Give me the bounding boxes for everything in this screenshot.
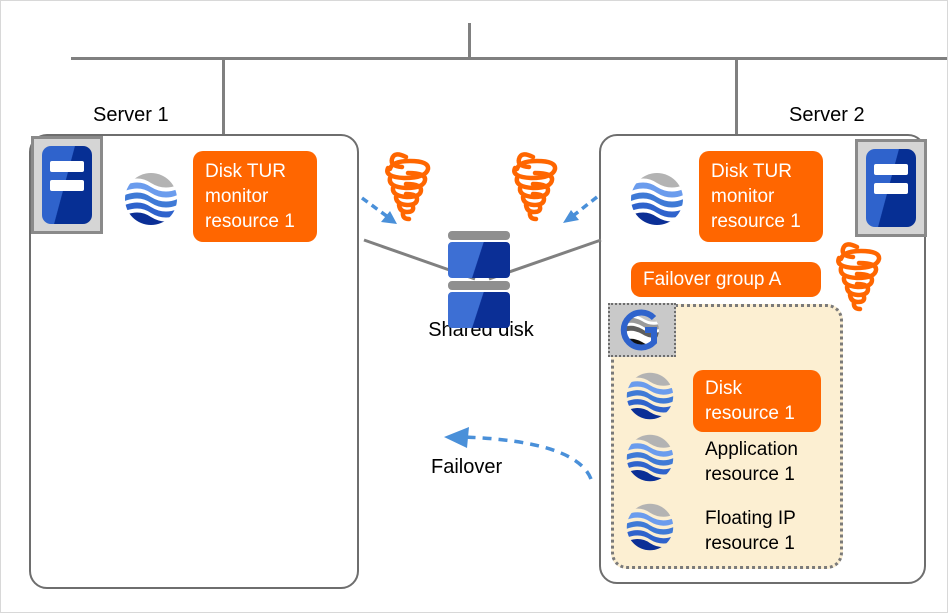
disk-platter-body: [448, 292, 510, 328]
disk-platter-bar: [448, 231, 510, 240]
server2-network-drop: [735, 57, 738, 135]
globe-icon: [123, 171, 179, 227]
tag-line-1: Disk TUR: [711, 159, 811, 184]
globe-icon: [625, 502, 675, 552]
server-chassis: [866, 149, 916, 227]
failover-group-a-label[interactable]: Failover group A: [631, 262, 821, 297]
server2-label: Server 2: [789, 104, 865, 127]
tag-line-1: Disk TUR: [205, 159, 305, 184]
server-slot: [874, 164, 908, 175]
group-globe-icon[interactable]: [608, 303, 676, 357]
res-line-2: resource 1: [705, 462, 798, 487]
tag-line-3: resource 1: [711, 209, 811, 234]
server-slot: [874, 183, 908, 194]
res-line-2: resource 1: [705, 531, 796, 556]
disk-resource-1[interactable]: Disk resource 1: [693, 370, 821, 432]
tag-line-2: monitor: [711, 184, 811, 209]
res-line-1: Application: [705, 437, 798, 462]
tornado-icon: [514, 154, 555, 219]
server-slot: [50, 161, 84, 172]
server-slot: [50, 180, 84, 191]
floating-ip-resource-1[interactable]: Floating IP resource 1: [705, 506, 796, 556]
server-icon: [31, 136, 103, 234]
failover-label: Failover: [431, 456, 502, 479]
tornado-icon: [387, 154, 428, 219]
server-chassis: [42, 146, 92, 224]
shared-disk-icon: [448, 231, 510, 331]
dashed-arrow-icon: [362, 198, 397, 224]
tag-line-2: resource 1: [705, 401, 809, 426]
tag-line-3: resource 1: [205, 209, 305, 234]
globe-icon: [629, 171, 685, 227]
disk-platter-bar: [448, 281, 510, 290]
server1-network-drop: [222, 57, 225, 135]
dashed-arrow-icon: [563, 197, 597, 223]
application-resource-1[interactable]: Application resource 1: [705, 437, 798, 487]
server1-label: Server 1: [93, 104, 169, 127]
disk-tur-monitor-resource-1-server1[interactable]: Disk TUR monitor resource 1: [193, 151, 317, 242]
server-icon: [855, 139, 927, 237]
tag-line-2: monitor: [205, 184, 305, 209]
disk-platter-body: [448, 242, 510, 278]
disk-tur-monitor-resource-1-server2[interactable]: Disk TUR monitor resource 1: [699, 151, 823, 242]
diagram-canvas: Server 1 Server 2 Disk: [0, 0, 948, 613]
res-line-1: Floating IP: [705, 506, 796, 531]
tag-line-1: Disk: [705, 376, 809, 401]
interconnect-bus: [71, 57, 947, 60]
globe-icon: [625, 433, 675, 483]
public-network-uplink: [468, 23, 471, 58]
globe-icon: [625, 371, 675, 421]
